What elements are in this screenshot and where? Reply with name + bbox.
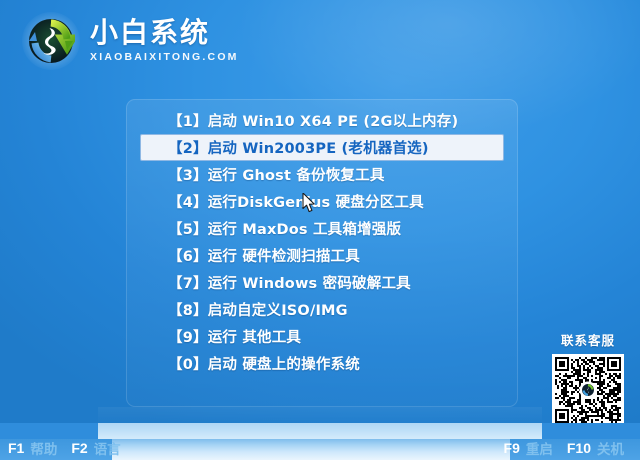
boot-menu-item-8[interactable]: 【8】启动自定义ISO/IMG (140, 296, 504, 323)
hotkey-key-f9: F9 (504, 440, 520, 456)
boot-menu-item-3[interactable]: 【3】运行 Ghost 备份恢复工具 (140, 161, 504, 188)
hotkey-key-f2: F2 (71, 440, 87, 456)
brand-logo: 小白系统 XIAOBAIXITONG.COM (22, 12, 239, 70)
hotkey-key-f10: F10 (567, 440, 591, 456)
hotkey-label-f1[interactable]: 帮助 (30, 438, 57, 458)
qr-code-icon[interactable] (552, 354, 624, 426)
boot-menu-screen: 小白系统 XIAOBAIXITONG.COM 【1】启动 Win10 X64 P… (0, 0, 640, 460)
hotkey-label-f10[interactable]: 关机 (597, 438, 624, 458)
boot-menu-item-9[interactable]: 【9】运行 其他工具 (140, 323, 504, 350)
qr-center-logo-icon (580, 382, 597, 399)
boot-menu-panel: 【1】启动 Win10 X64 PE (2G以上内存)【2】启动 Win2003… (126, 99, 518, 407)
boot-menu-item-label: 【3】运行 Ghost 备份恢复工具 (168, 164, 385, 185)
boot-menu-item-label: 【1】启动 Win10 X64 PE (2G以上内存) (168, 110, 458, 131)
boot-menu-item-label: 【9】运行 其他工具 (168, 326, 301, 347)
brand-name-en: XIAOBAIXITONG.COM (90, 52, 239, 63)
hotkey-label-f9[interactable]: 重启 (526, 438, 553, 458)
boot-menu-item-4[interactable]: 【4】运行DiskGenius 硬盘分区工具 (140, 188, 504, 215)
hotkey-label-f2[interactable]: 语言 (94, 438, 121, 458)
hotkeys-left: F1帮助F2语言 (8, 438, 129, 458)
boot-menu-item-7[interactable]: 【7】运行 Windows 密码破解工具 (140, 269, 504, 296)
boot-menu-item-label: 【6】运行 硬件检测扫描工具 (168, 245, 360, 266)
boot-menu-item-label: 【7】运行 Windows 密码破解工具 (168, 272, 411, 293)
brand-text: 小白系统 XIAOBAIXITONG.COM (90, 19, 239, 63)
hotkey-key-f1: F1 (8, 440, 24, 456)
boot-menu-item-label: 【4】运行DiskGenius 硬盘分区工具 (168, 191, 424, 212)
boot-menu-item-label: 【2】启动 Win2003PE (老机器首选) (168, 137, 429, 158)
boot-menu-item-2[interactable]: 【2】启动 Win2003PE (老机器首选) (140, 134, 504, 161)
boot-menu-item-10[interactable]: 【0】启动 硬盘上的操作系统 (140, 350, 504, 377)
header: 小白系统 XIAOBAIXITONG.COM (0, 0, 640, 88)
recycle-circle-logo-icon (22, 12, 80, 70)
boot-menu-item-label: 【0】启动 硬盘上的操作系统 (168, 353, 360, 374)
contact-support-block: 联系客服 (549, 330, 627, 426)
hotkeys-right: F9重启F10关机 (504, 438, 632, 458)
boot-menu-item-label: 【5】运行 MaxDos 工具箱增强版 (168, 218, 401, 239)
boot-menu-item-6[interactable]: 【6】运行 硬件检测扫描工具 (140, 242, 504, 269)
boot-menu-list: 【1】启动 Win10 X64 PE (2G以上内存)【2】启动 Win2003… (126, 107, 518, 377)
boot-menu-item-5[interactable]: 【5】运行 MaxDos 工具箱增强版 (140, 215, 504, 242)
contact-support-label: 联系客服 (549, 330, 627, 349)
boot-menu-item-label: 【8】启动自定义ISO/IMG (168, 299, 348, 320)
boot-menu-item-1[interactable]: 【1】启动 Win10 X64 PE (2G以上内存) (140, 107, 504, 134)
shelf-top-surface (0, 423, 640, 439)
brand-name-cn: 小白系统 (90, 19, 239, 47)
